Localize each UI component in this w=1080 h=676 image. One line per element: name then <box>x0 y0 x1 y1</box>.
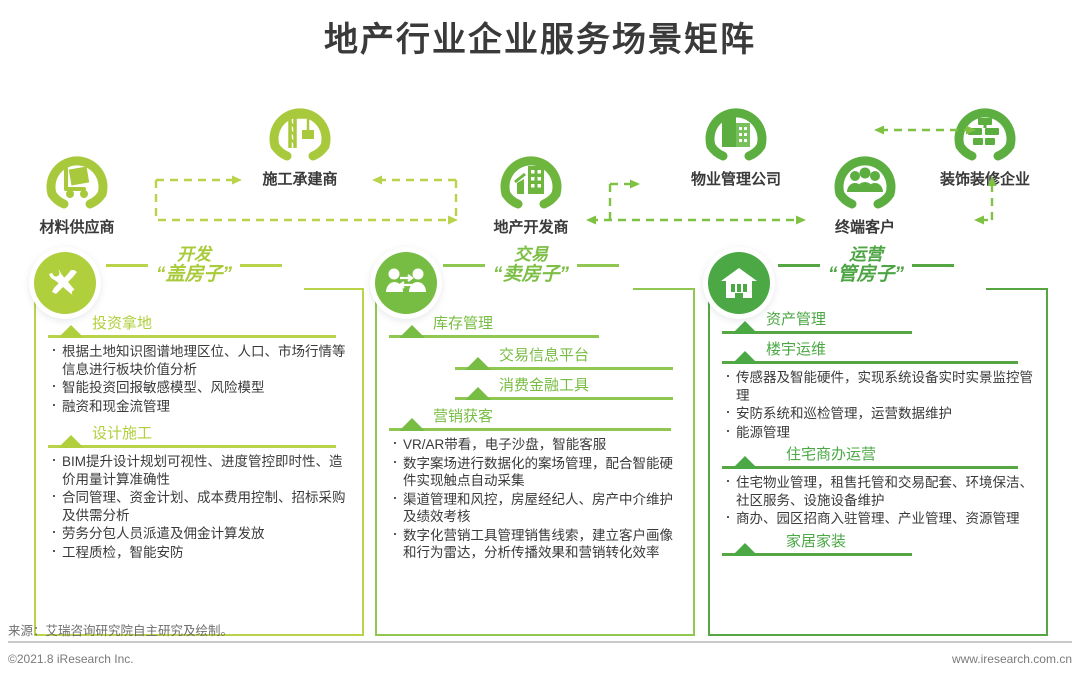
list-item: 工程质检，智能安防 <box>48 544 350 562</box>
list-item: 传感器及智能硬件，实现系统设备实时实景监控管理 <box>722 369 1034 404</box>
section-rule <box>722 361 1018 364</box>
section-title: 设计施工 <box>48 424 350 444</box>
list-item: 能源管理 <box>722 424 1034 442</box>
page-title: 地产行业企业服务场景矩阵 <box>0 12 1080 61</box>
tools-cross-icon <box>34 252 96 314</box>
section-title: 住宅商办运营 <box>722 445 1034 465</box>
panel-kicker: 交易 <box>493 246 569 265</box>
eco-node-property-developer: 地产开发商 <box>468 148 594 237</box>
section-title: 库存管理 <box>389 314 681 334</box>
header-rule-left <box>443 264 485 267</box>
list-item: BIM提升设计规划可视性、进度管控即时性、造价用量计算准确性 <box>48 453 350 488</box>
section-transaction-info-platform: 交易信息平台 <box>455 346 681 370</box>
list-item: 合同管理、资金计划、成本费用控制、招标采购及供需分析 <box>48 489 350 524</box>
section-title: 家居家装 <box>722 532 1034 552</box>
section-home-furnishing: 家居家装 <box>722 532 1034 556</box>
list-item: 渠道管理和风控，房屋经纪人、房产中介维护及绩效考核 <box>389 491 681 526</box>
eco-node-label: 地产开发商 <box>468 216 594 237</box>
header-rule-right <box>240 264 282 267</box>
section-title: 资产管理 <box>722 310 1034 330</box>
connector-supplier-contractor-developer <box>150 170 470 230</box>
source-note: 来源：艾瑞咨询研究院自主研究及绘制。 <box>8 620 233 639</box>
list-item: 智能投资回报敏感模型、风险模型 <box>48 379 350 397</box>
panel-title: “卖房子” <box>493 265 569 286</box>
bullet-list: BIM提升设计规划可视性、进度管控即时性、造价用量计算准确性 合同管理、资金计划… <box>48 453 350 561</box>
section-title: 营销获客 <box>389 407 681 427</box>
section-investment-land: 投资拿地 根据土地知识图谱地理区位、人口、市场行情等信息进行板块价值分析 智能投… <box>48 314 350 415</box>
list-item: 商办、园区招商入驻管理、产业管理、资源管理 <box>722 510 1034 528</box>
section-title: 楼宇运维 <box>722 340 1034 360</box>
section-rule <box>722 553 912 556</box>
building-chart-icon <box>498 148 564 214</box>
section-marketing-acquisition: 营销获客 VR/AR带看，电子沙盘，智能客服 数字案场进行数据化的案场管理，配合… <box>389 407 681 562</box>
list-item: 劳务分包人员派遣及佣金计算发放 <box>48 525 350 543</box>
section-rule <box>722 466 1018 469</box>
bullet-list: 住宅物业管理，租售托管和交易配套、环境保洁、社区服务、设施设备维护 商办、园区招… <box>722 474 1034 528</box>
list-item: 住宅物业管理，租售托管和交易配套、环境保洁、社区服务、设施设备维护 <box>722 474 1034 509</box>
connector-customer-decoration <box>860 108 1020 238</box>
list-item: 数字案场进行数据化的案场管理，配合智能硬件实现触点自动采集 <box>389 455 681 490</box>
section-asset-management: 资产管理 <box>722 310 1034 334</box>
eco-node-material-supplier: 材料供应商 <box>14 148 140 237</box>
people-exchange-icon <box>375 252 437 314</box>
list-item: 安防系统和巡检管理，运营数据维护 <box>722 405 1034 423</box>
panel-top-edge-right <box>633 288 695 290</box>
connector-developer-property-customer <box>600 170 860 230</box>
section-rule <box>455 367 673 370</box>
panel-title: “盖房子” <box>156 265 232 286</box>
section-building-operation: 楼宇运维 传感器及智能硬件，实现系统设备实时实景监控管理 安防系统和巡检管理，运… <box>722 340 1034 441</box>
eco-node-label: 材料供应商 <box>14 216 140 237</box>
header-rule-left <box>106 264 148 267</box>
header-rule-left <box>778 264 820 267</box>
list-item: VR/AR带看，电子沙盘，智能客服 <box>389 436 681 454</box>
panel-kicker: 运营 <box>828 246 904 265</box>
bullet-list: VR/AR带看，电子沙盘，智能客服 数字案场进行数据化的案场管理，配合智能硬件实… <box>389 436 681 562</box>
section-rule <box>48 335 336 338</box>
bullet-list: 根据土地知识图谱地理区位、人口、市场行情等信息进行板块价值分析 智能投资回报敏感… <box>48 343 350 415</box>
section-rule <box>389 335 599 338</box>
panel-kicker: 开发 <box>156 246 232 265</box>
crane-icon <box>267 100 333 166</box>
bullet-list: 传感器及智能硬件，实现系统设备实时实景监控管理 安防系统和巡检管理，运营数据维护… <box>722 369 1034 441</box>
section-consumer-finance-tools: 消费金融工具 <box>455 376 681 400</box>
panel-top-edge-right <box>986 288 1048 290</box>
panel-title: “管房子” <box>828 265 904 286</box>
list-item: 融资和现金流管理 <box>48 398 350 416</box>
hand-truck-icon <box>44 148 110 214</box>
list-item: 数字化营销工具管理销售线索，建立客户画像和行为雷达，分析传播效果和营销转化效率 <box>389 527 681 562</box>
section-rule <box>389 428 671 431</box>
panel-top-edge-right <box>304 288 364 290</box>
office-buildings-icon <box>703 100 769 166</box>
infographic-page: 地产行业企业服务场景矩阵 材料供应商 <box>0 0 1080 676</box>
copyright-text: ©2021.8 iResearch Inc. <box>8 652 134 666</box>
house-icon <box>708 252 770 314</box>
panel-header: 开发 “盖房子” <box>106 246 282 286</box>
panel-header: 运营 “管房子” <box>778 246 954 286</box>
section-title: 投资拿地 <box>48 314 350 334</box>
website-link[interactable]: www.iresearch.com.cn <box>952 652 1072 666</box>
list-item: 根据土地知识图谱地理区位、人口、市场行情等信息进行板块价值分析 <box>48 343 350 378</box>
section-inventory-management: 库存管理 <box>389 314 681 338</box>
footer-divider <box>8 641 1072 643</box>
section-design-construction: 设计施工 BIM提升设计规划可视性、进度管控即时性、造价用量计算准确性 合同管理… <box>48 424 350 561</box>
header-rule-right <box>577 264 619 267</box>
panel-header: 交易 “卖房子” <box>443 246 619 286</box>
header-rule-right <box>912 264 954 267</box>
section-rule <box>455 397 673 400</box>
section-residential-commercial-operation: 住宅商办运营 住宅物业管理，租售托管和交易配套、环境保洁、社区服务、设施设备维护… <box>722 445 1034 528</box>
section-rule <box>48 445 336 448</box>
section-rule <box>722 331 912 334</box>
